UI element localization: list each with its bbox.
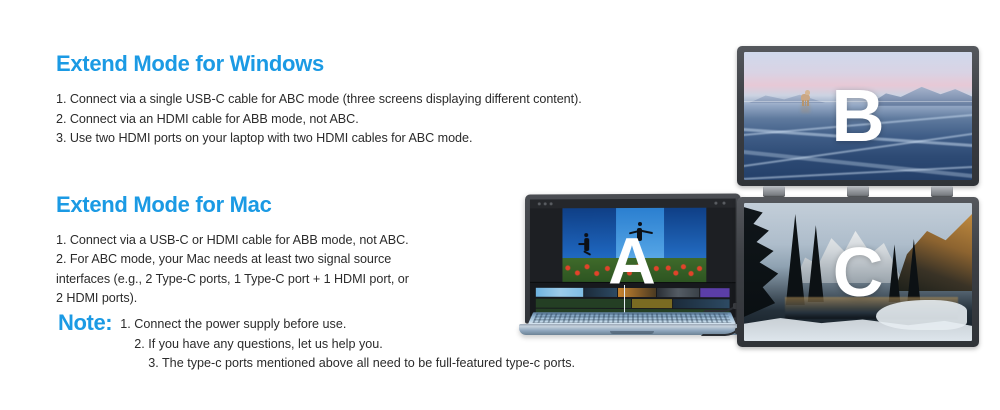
device-illustration: A [505,46,1000,376]
hinge [931,186,953,197]
portable-monitor-c: C [737,197,979,347]
note-label: Note: [58,313,112,333]
screen-label-b: B [744,79,972,153]
mac-step-2: 2. For ABC mode, your Mac needs at least… [56,250,416,309]
monitor-b-screen: B [744,52,972,180]
hinge [763,186,785,197]
monitor-c-screen: C [744,203,972,341]
timeline-clip[interactable] [536,299,631,308]
screen-label-c: C [744,237,972,307]
editor-toolbar-dot [714,202,717,205]
editor-toolbar-dot [538,202,541,205]
portable-monitor-b: B [737,46,979,186]
editor-toolbar-dot [544,202,547,205]
timeline-clip[interactable] [632,299,672,308]
editor-toolbar-dot [722,202,725,205]
editor-toolbar-dot [550,202,553,205]
trackpad-notch [610,331,654,334]
instruction-page: Extend Mode for Windows 1. Connect via a… [0,0,1000,410]
portable-monitor-stack: B [737,46,979,347]
monitor-hinge-row [737,186,979,197]
note-block: Note: 1. Connect the power supply before… [58,313,575,374]
hinge [847,186,869,197]
screen-label-a: A [530,227,736,294]
